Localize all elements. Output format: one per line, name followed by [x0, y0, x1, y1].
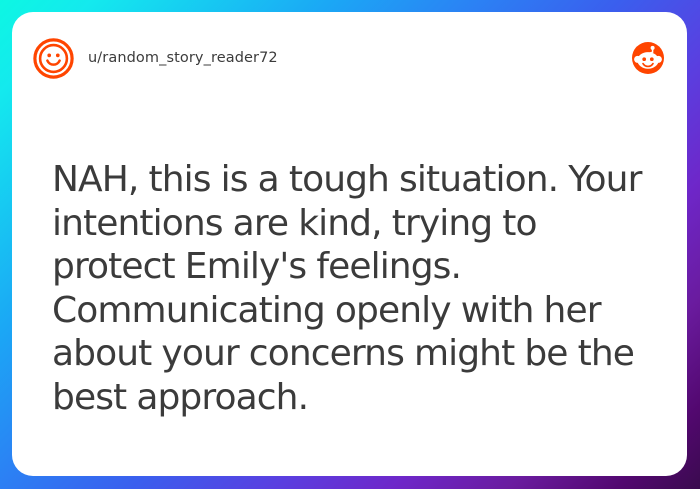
reddit-snoo-logo-icon[interactable] [631, 41, 665, 75]
post-text: NAH, this is a tough situation. Your int… [52, 158, 653, 419]
post-body: NAH, this is a tough situation. Your int… [52, 158, 653, 419]
post-header: u/random_story_reader72 [12, 32, 687, 84]
smiley-face-avatar-icon[interactable] [33, 38, 74, 79]
username-label: u/random_story_reader72 [88, 50, 631, 66]
reddit-post-card: u/random_story_reader72 [12, 12, 687, 476]
gradient-background: u/random_story_reader72 [0, 0, 700, 489]
